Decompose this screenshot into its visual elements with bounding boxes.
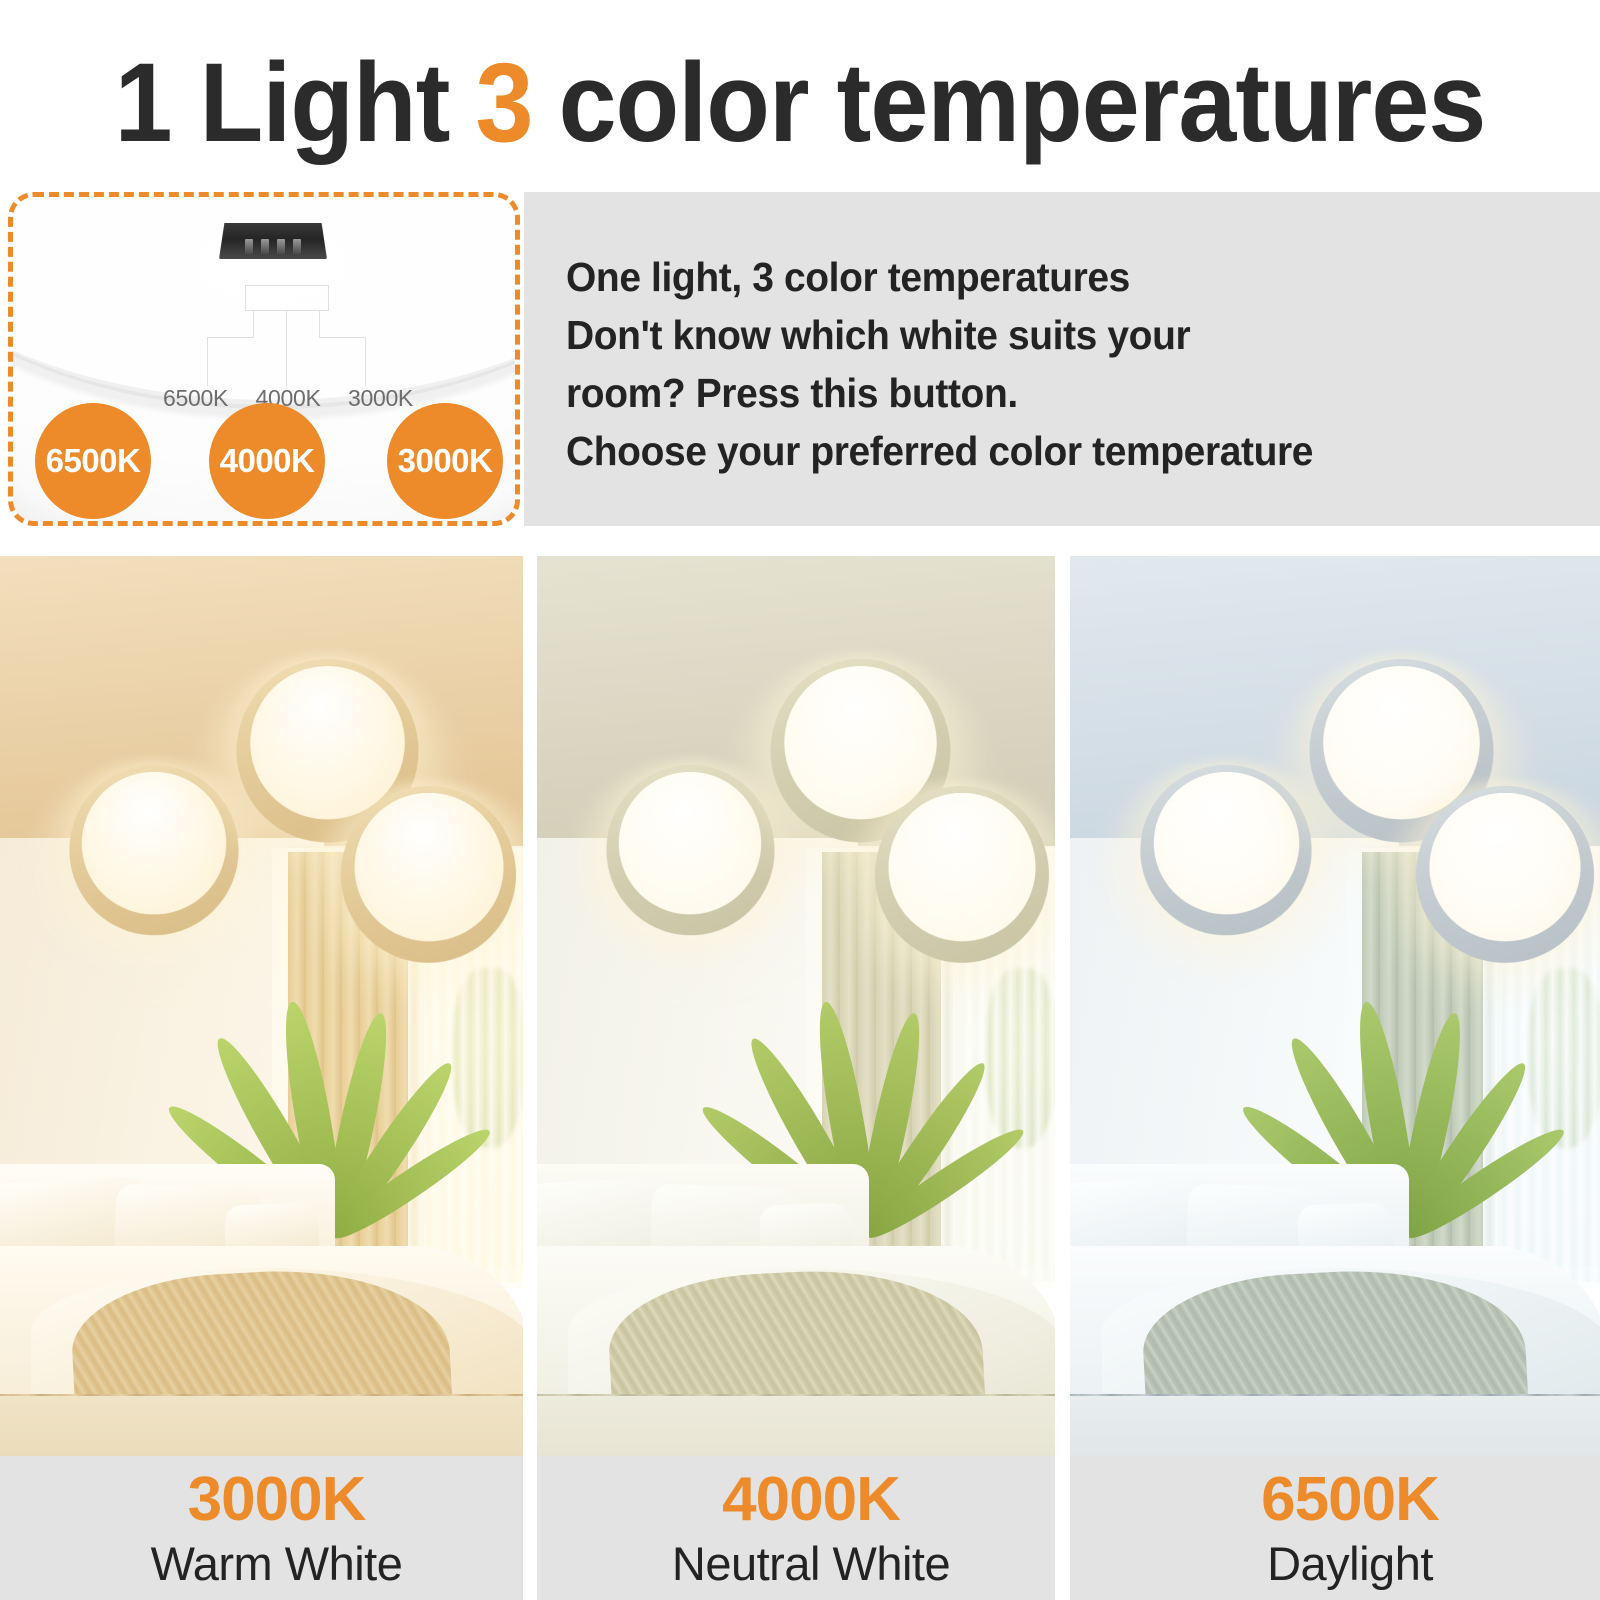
kelvin-circle-label-6500k: 6500K	[46, 442, 141, 480]
title-highlight-3: 3	[470, 47, 538, 159]
scene-name-6500k: Daylight	[1267, 1540, 1433, 1587]
product-switch-card: 6500K 4000K 3000K 6500K 4000K 3000K	[8, 192, 520, 526]
connector-line-right-leg	[365, 337, 366, 386]
connector-line-right-stub	[319, 311, 320, 337]
connector-line-right-horizontal	[319, 337, 366, 338]
kelvin-circle-4000k[interactable]: 4000K	[209, 403, 325, 519]
scene-caption-4000k: 4000K Neutral White	[537, 1456, 1055, 1600]
description-panel: One light, 3 color temperatures Don't kn…	[524, 192, 1600, 526]
scene-kelvin-3000k: 3000K	[188, 1469, 366, 1531]
scene-caption-6500k: 6500K Daylight	[1070, 1456, 1600, 1600]
kelvin-circle-label-3000k: 3000K	[398, 442, 493, 480]
scene-panel-6500k: 6500K Daylight	[1070, 556, 1600, 1600]
top-section: 6500K 4000K 3000K 6500K 4000K 3000K One …	[0, 192, 1600, 526]
kelvin-circle-label-4000k: 4000K	[220, 442, 315, 480]
scene-panel-3000k: 3000K Warm White	[0, 556, 523, 1600]
scene-name-4000k: Neutral White	[672, 1540, 950, 1587]
switch-contacts	[245, 239, 301, 254]
color-temperature-switch-icon[interactable]	[219, 223, 327, 259]
room-photo-6500k	[1070, 556, 1600, 1456]
room-photo-4000k	[537, 556, 1055, 1456]
scene-kelvin-6500k: 6500K	[1261, 1469, 1439, 1531]
description-line-1: One light, 3 color temperatures	[566, 248, 1548, 306]
title-part-2: color temperatures	[559, 47, 1486, 159]
kelvin-circle-6500k[interactable]: 6500K	[35, 403, 151, 519]
area-rug	[537, 1396, 1055, 1456]
page-title: 1 Light 3 color temperatures	[56, 38, 1544, 168]
connector-line-left-horizontal	[207, 337, 254, 338]
title-part-1: 1 Light	[115, 47, 450, 159]
scene-name-3000k: Warm White	[151, 1540, 403, 1587]
scene-comparison-row: 3000K Warm White	[0, 556, 1600, 1600]
connector-line-left-leg	[207, 337, 208, 386]
description-line-2: Don't know which white suits your	[566, 306, 1548, 364]
scene-panel-4000k: 4000K Neutral White	[537, 556, 1055, 1600]
room-photo-3000k	[0, 556, 523, 1456]
kelvin-circle-3000k[interactable]: 3000K	[387, 403, 503, 519]
connector-line-left-stub	[253, 311, 254, 337]
area-rug	[1070, 1396, 1600, 1456]
scene-caption-3000k: 3000K Warm White	[0, 1456, 523, 1600]
connector-line-middle	[286, 311, 287, 386]
description-line-3: room? Press this button.	[566, 364, 1548, 422]
description-line-4: Choose your preferred color temperature	[566, 422, 1548, 480]
infographic-page: 1 Light 3 color temperatures	[0, 0, 1600, 1600]
connector-box	[245, 285, 329, 311]
kelvin-circle-row: 6500K 4000K 3000K	[13, 403, 520, 523]
area-rug	[0, 1396, 523, 1456]
scene-kelvin-4000k: 4000K	[722, 1469, 900, 1531]
